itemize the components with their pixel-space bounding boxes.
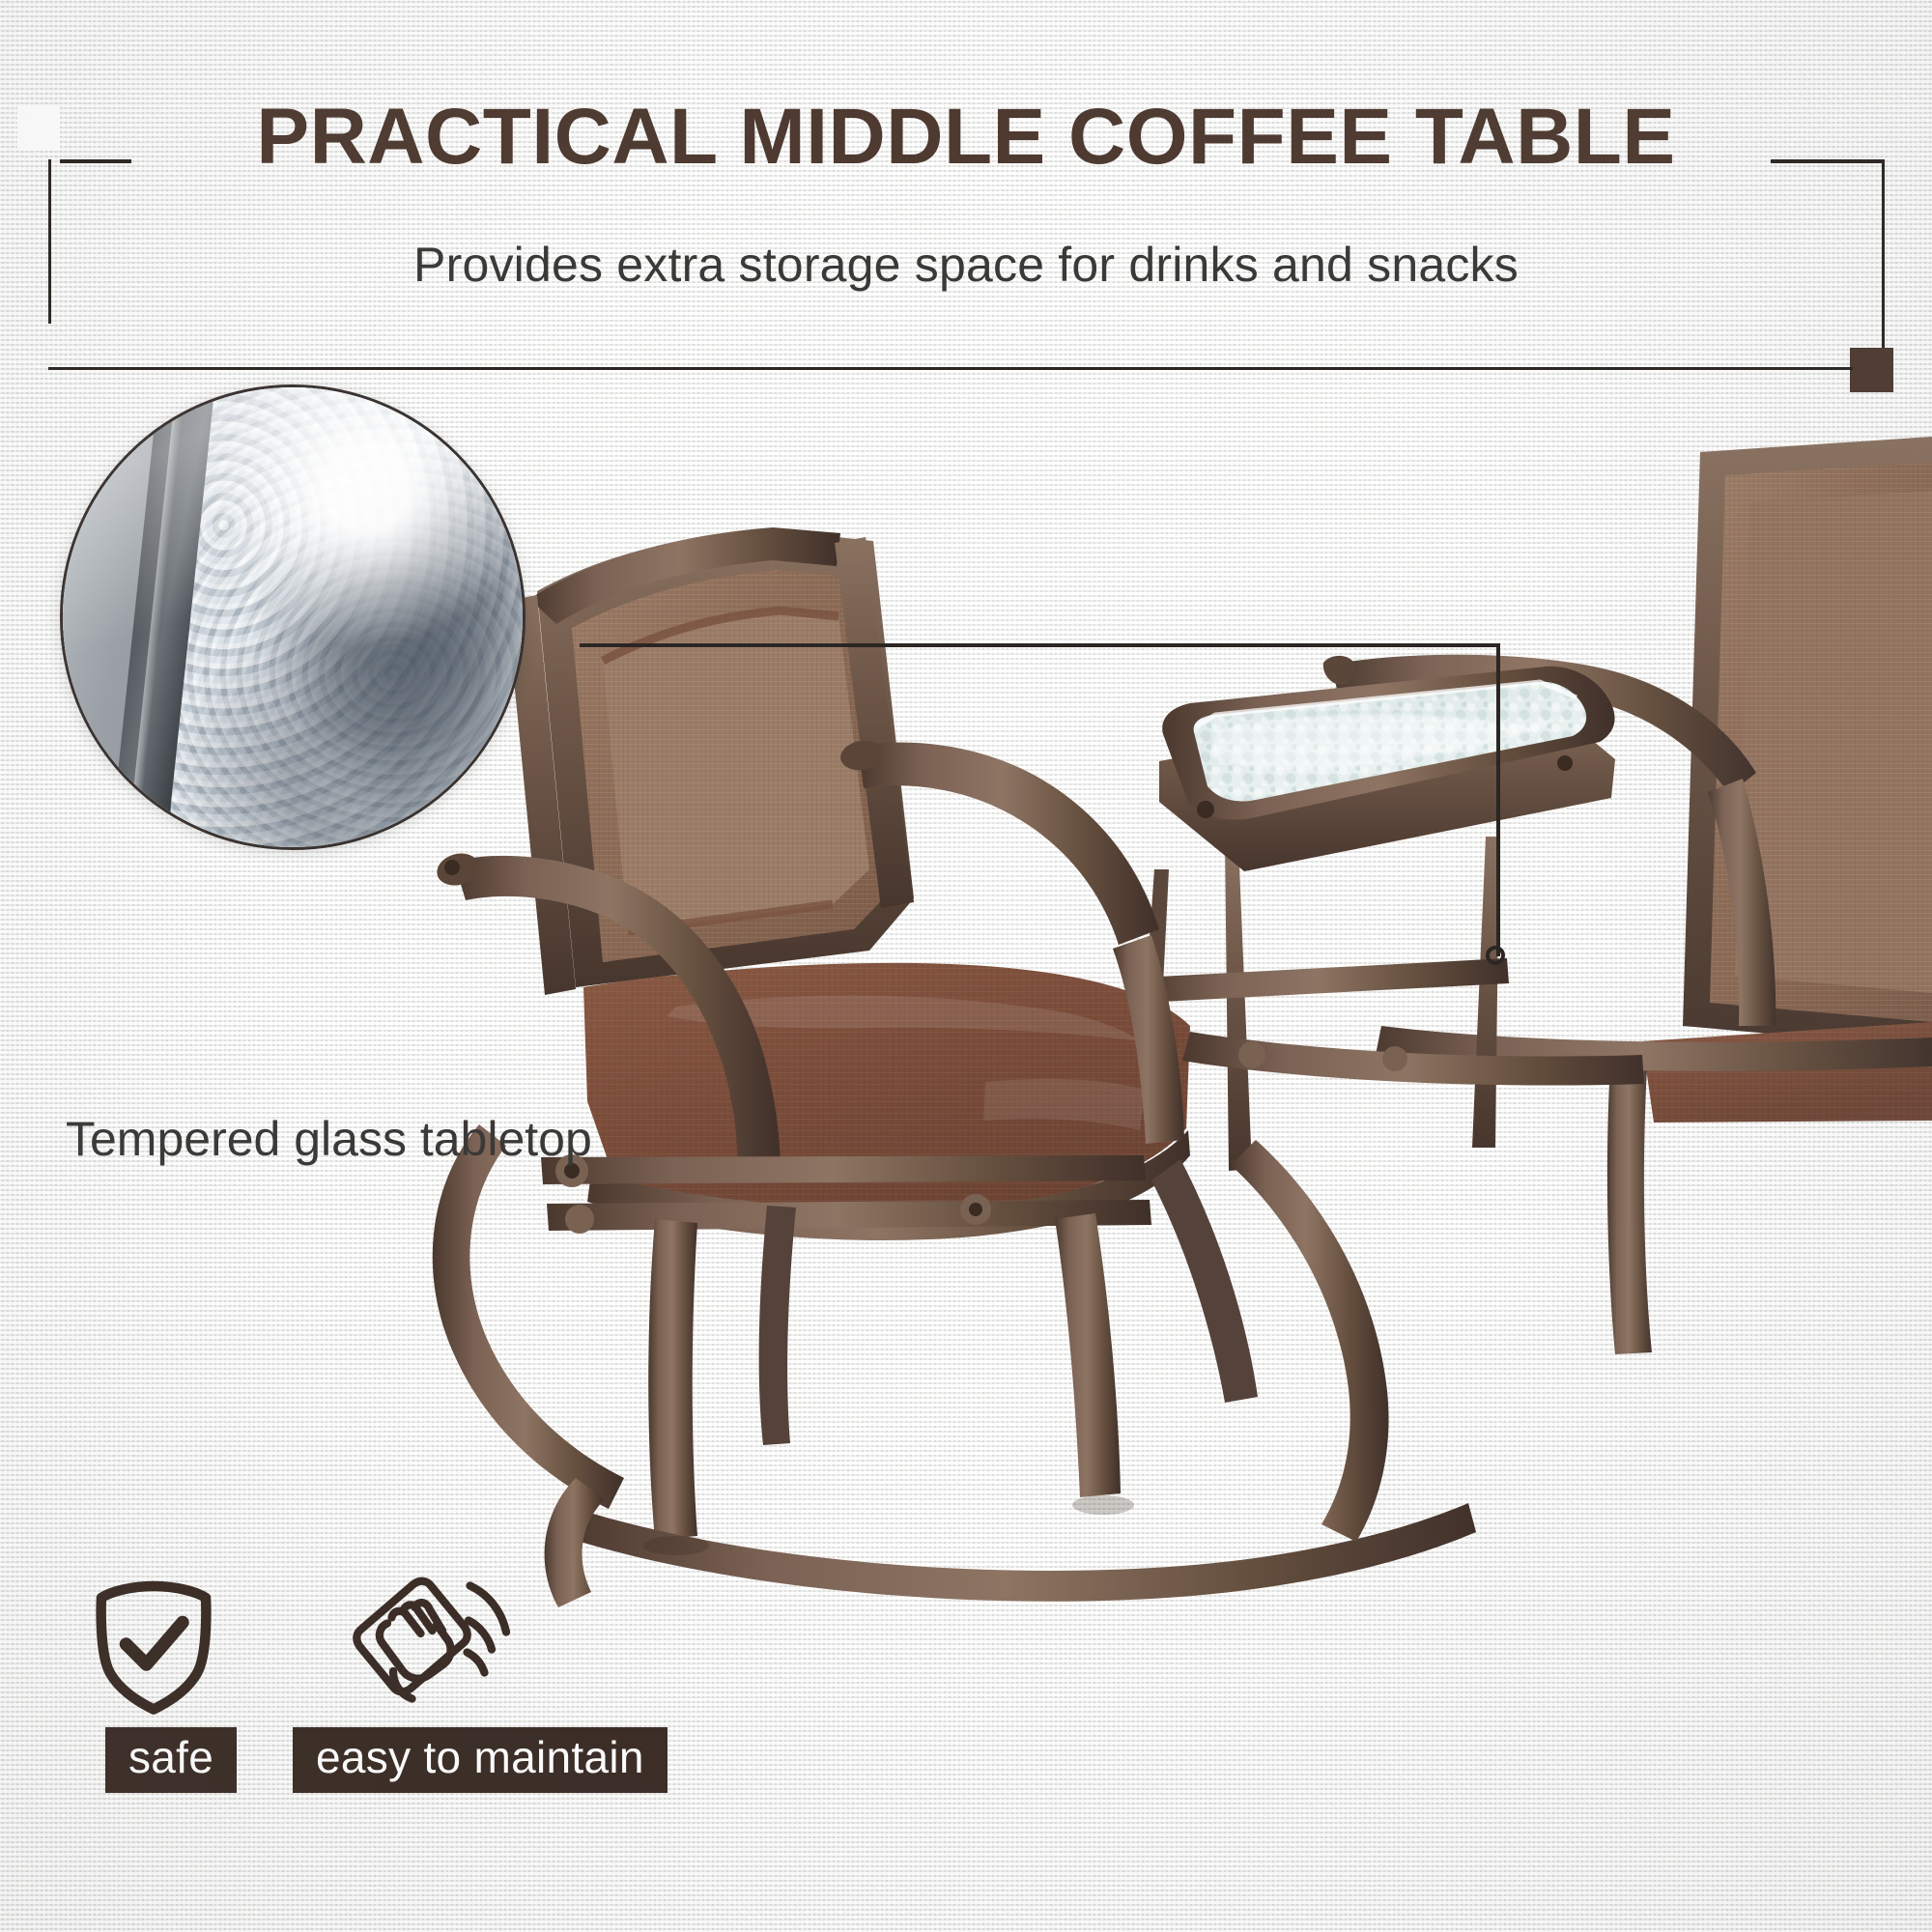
detail-caption: Tempered glass tabletop (66, 1111, 592, 1167)
page-title: PRACTICAL MIDDLE COFFEE TABLE (0, 92, 1932, 183)
callout-leader-vertical (1496, 643, 1500, 956)
header-accent-square (1850, 348, 1893, 392)
hand-wiping-cloth-icon (324, 1563, 526, 1727)
shield-check-icon (81, 1575, 226, 1719)
callout-leader-horizontal (580, 643, 1500, 647)
callout-endpoint-marker (1486, 946, 1505, 965)
feature-label-safe: safe (105, 1727, 237, 1793)
header-rule-bottom (48, 367, 1853, 370)
feature-label-easy-to-maintain: easy to maintain (293, 1727, 668, 1793)
page-subtitle: Provides extra storage space for drinks … (0, 237, 1932, 293)
glass-sheen (63, 387, 523, 847)
detail-inset-tempered-glass (60, 384, 526, 850)
